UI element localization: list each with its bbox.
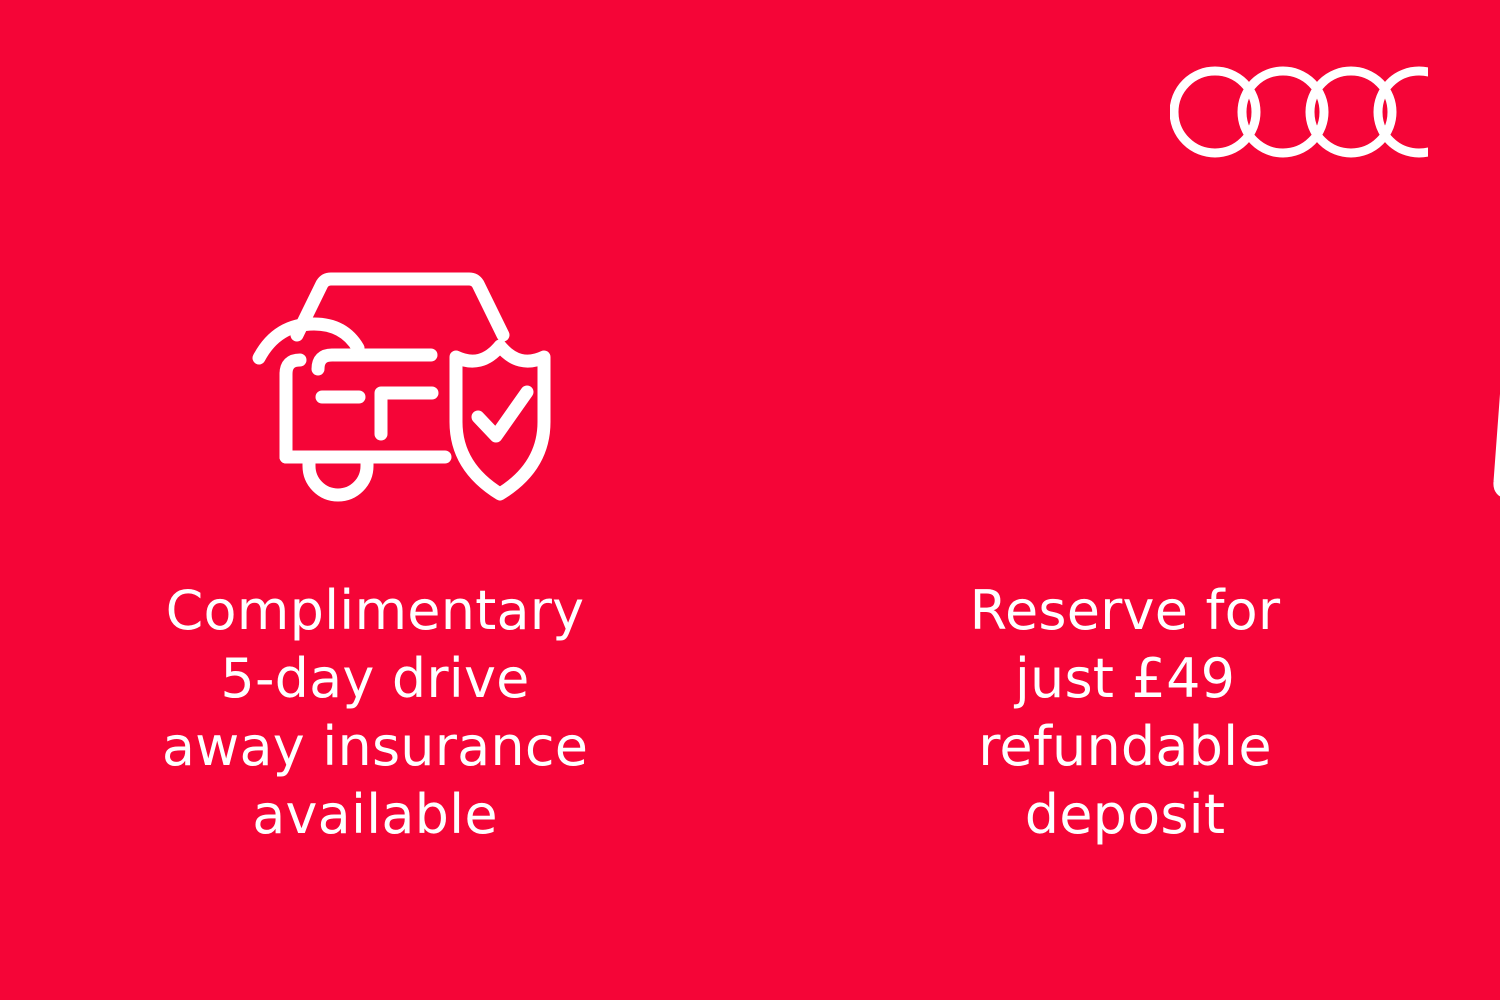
feature-caption-deposit: Reserve for just £49 refundable deposit: [750, 577, 1500, 849]
promo-banner: Complimentary 5-day drive away insurance…: [0, 0, 1500, 1000]
feature-item-insurance: Complimentary 5-day drive away insurance…: [0, 0, 750, 1000]
feature-item-deposit: Reserve for just £49 refundable deposit: [750, 0, 1500, 1000]
feature-list: Complimentary 5-day drive away insurance…: [0, 0, 1500, 1000]
car-shield-insurance-icon: [252, 262, 582, 502]
feature-caption-insurance: Complimentary 5-day drive away insurance…: [0, 577, 750, 849]
folded-card-checkmark-icon: [1468, 262, 1500, 502]
